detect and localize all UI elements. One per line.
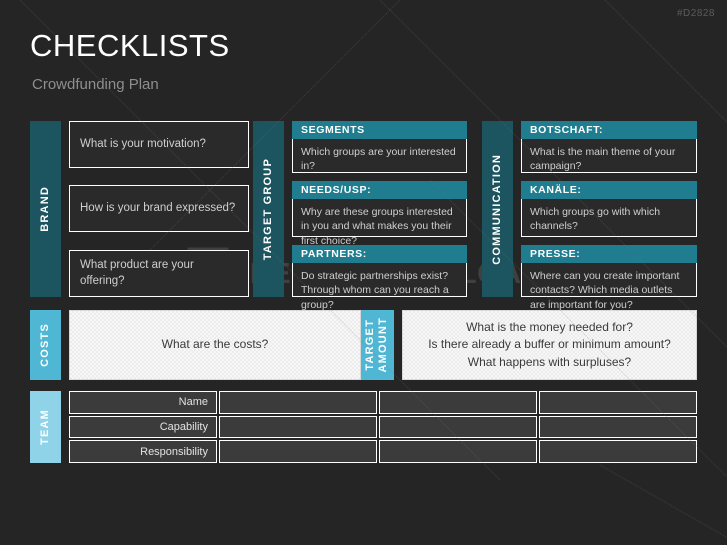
target-group-card-segments-header: SEGMENTS: [292, 121, 467, 139]
target-group-card-partners-header: PARTNERS:: [292, 245, 467, 263]
communication-card-botschaft[interactable]: BOTSCHAFT: What is the main theme of you…: [521, 121, 697, 173]
target-group-card-needs[interactable]: NEEDS/USP: Why are these groups interest…: [292, 181, 467, 237]
costs-label: COSTS: [40, 323, 52, 367]
target-amount-label-line1: TARGET: [365, 319, 377, 371]
team-cell-capability-3[interactable]: [539, 416, 697, 439]
brand-label-bar: BRAND: [30, 121, 61, 297]
brand-question-1[interactable]: What is your motivation?: [69, 121, 249, 168]
team-cell-responsibility-3[interactable]: [539, 440, 697, 463]
target-amount-label-bar: TARGET AMOUNT: [361, 310, 394, 380]
brand-question-3-text: What product are your offering?: [80, 258, 238, 288]
team-label-bar: TEAM: [30, 391, 61, 463]
page-title: CHECKLISTS: [30, 30, 230, 61]
target-amount-panel[interactable]: What is the money needed for? Is there a…: [402, 310, 697, 380]
team-label: TEAM: [40, 409, 52, 445]
team-row-label-responsibility: Responsibility: [69, 440, 217, 463]
brand-block: BRAND What is your motivation? How is yo…: [30, 121, 249, 297]
slide-canvas: #D2828 CHECKLISTS Crowdfunding Plan BRAN…: [0, 0, 727, 545]
brand-question-1-text: What is your motivation?: [80, 137, 206, 152]
target-group-card-segments[interactable]: SEGMENTS Which groups are your intereste…: [292, 121, 467, 173]
communication-card-botschaft-header: BOTSCHAFT:: [521, 121, 697, 139]
target-group-card-needs-body: Why are these groups interested in you a…: [292, 199, 467, 237]
target-group-label-bar: TARGET GROUP: [253, 121, 284, 297]
target-group-label: TARGET GROUP: [263, 158, 275, 260]
team-cell-name-1[interactable]: [219, 391, 377, 414]
page-subtitle: Crowdfunding Plan: [32, 77, 159, 92]
target-group-card-partners[interactable]: PARTNERS: Do strategic partnerships exis…: [292, 245, 467, 297]
brand-question-2[interactable]: How is your brand expressed?: [69, 185, 249, 232]
brand-question-3[interactable]: What product are your offering?: [69, 250, 249, 297]
communication-label-bar: COMMUNICATION: [482, 121, 513, 297]
team-cell-responsibility-2[interactable]: [379, 440, 537, 463]
team-table: Name Capability Responsibility: [69, 391, 697, 463]
communication-card-kanaele[interactable]: KANÄLE: Which groups go with which chann…: [521, 181, 697, 237]
target-group-card-segments-body: Which groups are your interested in?: [292, 139, 467, 173]
team-block: TEAM Name Capability Responsibility: [30, 391, 697, 463]
team-cell-name-3[interactable]: [539, 391, 697, 414]
costs-panel-text: What are the costs?: [162, 336, 269, 353]
communication-card-presse-body: Where can you create important contacts?…: [521, 263, 697, 297]
team-cell-responsibility-1[interactable]: [219, 440, 377, 463]
communication-card-presse[interactable]: PRESSE: Where can you create important c…: [521, 245, 697, 297]
team-row-label-name: Name: [69, 391, 217, 414]
communication-card-kanaele-header: KANÄLE:: [521, 181, 697, 199]
costs-panel[interactable]: What are the costs?: [69, 310, 361, 380]
team-cell-name-2[interactable]: [379, 391, 537, 414]
brand-label: BRAND: [40, 186, 52, 232]
communication-card-kanaele-body: Which groups go with which channels?: [521, 199, 697, 237]
team-cell-capability-1[interactable]: [219, 416, 377, 439]
target-group-card-needs-header: NEEDS/USP:: [292, 181, 467, 199]
communication-block: COMMUNICATION BOTSCHAFT: What is the mai…: [482, 121, 697, 297]
target-amount-panel-text: What is the money needed for? Is there a…: [428, 319, 671, 371]
costs-label-bar: COSTS: [30, 310, 61, 380]
communication-card-presse-header: PRESSE:: [521, 245, 697, 263]
target-amount-block: TARGET AMOUNT What is the money needed f…: [361, 310, 697, 380]
brand-question-2-text: How is your brand expressed?: [80, 201, 235, 216]
target-group-block: TARGET GROUP SEGMENTS Which groups are y…: [253, 121, 467, 297]
team-row-label-capability: Capability: [69, 416, 217, 439]
slide-id-tag: #D2828: [677, 8, 715, 19]
target-group-card-partners-body: Do strategic partnerships exist? Through…: [292, 263, 467, 297]
communication-label: COMMUNICATION: [492, 154, 504, 265]
target-amount-label-line2: AMOUNT: [378, 317, 390, 372]
costs-block: COSTS What are the costs?: [30, 310, 361, 380]
communication-card-botschaft-body: What is the main theme of your campaign?: [521, 139, 697, 173]
team-cell-capability-2[interactable]: [379, 416, 537, 439]
